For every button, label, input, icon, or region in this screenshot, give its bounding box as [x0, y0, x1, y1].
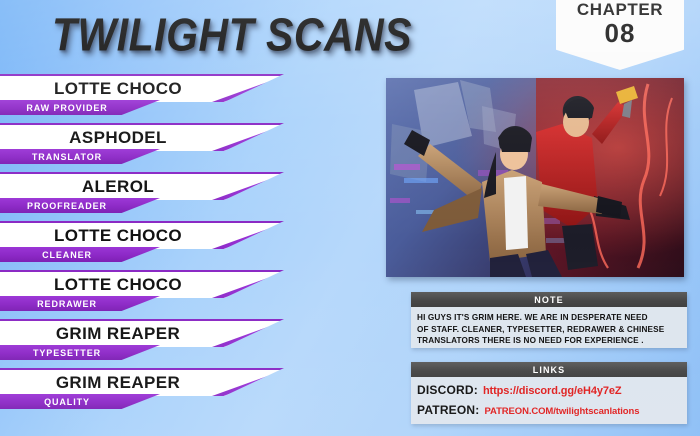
credit-role-bar: CLEANER: [0, 247, 160, 262]
note-line: OF STAFF. CLEANER, TYPESETTER, REDRAWER …: [417, 324, 681, 336]
credit-block: LOTTE CHOCORAW PROVIDER: [0, 74, 300, 118]
artwork-illustration: [386, 78, 684, 277]
links-panel-header: LINKS: [411, 362, 687, 377]
credit-name-bar: ALEROL: [0, 172, 284, 200]
credit-block: LOTTE CHOCOCLEANER: [0, 221, 300, 265]
link-row[interactable]: DISCORD:https://discord.gg/eH4y7eZ: [417, 383, 681, 397]
note-line: TRANSLATORS THERE IS NO NEED FOR EXPERIE…: [417, 335, 681, 347]
chapter-label: CHAPTER: [577, 1, 663, 19]
credits-page: TWILIGHT SCANS CHAPTER 08 LOTTE CHOCORAW…: [0, 0, 700, 436]
note-body: HI GUYS IT'S GRIM HERE. WE ARE IN DESPER…: [411, 307, 687, 347]
credit-name-bar: LOTTE CHOCO: [0, 270, 284, 298]
note-line: HI GUYS IT'S GRIM HERE. WE ARE IN DESPER…: [417, 312, 681, 324]
link-label: PATREON:: [417, 403, 480, 417]
credit-name: LOTTE CHOCO: [54, 79, 182, 99]
credit-block: ASPHODELTRANSLATOR: [0, 123, 300, 167]
credit-role-bar: REDRAWER: [0, 296, 160, 311]
links-panel: LINKS DISCORD:https://discord.gg/eH4y7eZ…: [411, 362, 687, 424]
credit-role: REDRAWER: [37, 299, 97, 309]
link-label: DISCORD:: [417, 383, 478, 397]
credit-block: GRIM REAPERTYPESETTER: [0, 319, 300, 363]
note-header-label: NOTE: [534, 295, 563, 305]
chapter-ribbon: CHAPTER 08: [556, 0, 684, 70]
chapter-artwork: [386, 78, 684, 277]
credit-name: GRIM REAPER: [56, 324, 180, 344]
credit-role-bar: TYPESETTER: [0, 345, 160, 360]
credit-name: LOTTE CHOCO: [54, 275, 182, 295]
note-panel: NOTE HI GUYS IT'S GRIM HERE. WE ARE IN D…: [411, 292, 687, 348]
credit-name-bar: GRIM REAPER: [0, 319, 284, 347]
note-panel-header: NOTE: [411, 292, 687, 307]
credit-role-bar: QUALITY: [0, 394, 160, 409]
credit-block: ALEROLPROOFREADER: [0, 172, 300, 216]
credit-role: PROOFREADER: [27, 201, 107, 211]
credit-role: TYPESETTER: [33, 348, 101, 358]
credits-list: LOTTE CHOCORAW PROVIDERASPHODELTRANSLATO…: [0, 74, 300, 417]
credit-role: QUALITY: [44, 397, 90, 407]
links-body: DISCORD:https://discord.gg/eH4y7eZPATREO…: [411, 377, 687, 417]
credit-name: ASPHODEL: [69, 128, 167, 148]
chapter-number: 08: [605, 20, 636, 47]
credit-role-bar: PROOFREADER: [0, 198, 160, 213]
credit-name: LOTTE CHOCO: [54, 226, 182, 246]
credit-name-bar: LOTTE CHOCO: [0, 74, 284, 102]
link-row[interactable]: PATREON:PATREON.COM/twilightscanlations: [417, 403, 681, 417]
credit-block: LOTTE CHOCOREDRAWER: [0, 270, 300, 314]
credit-role: TRANSLATOR: [32, 152, 102, 162]
credit-name: GRIM REAPER: [56, 373, 180, 393]
credit-name-bar: GRIM REAPER: [0, 368, 284, 396]
links-header-label: LINKS: [533, 365, 566, 375]
site-title: TWILIGHT SCANS: [52, 9, 412, 62]
credit-role-bar: RAW PROVIDER: [0, 100, 160, 115]
credit-name: ALEROL: [82, 177, 154, 197]
link-url[interactable]: PATREON.COM/twilightscanlations: [485, 406, 640, 417]
credit-block: GRIM REAPERQUALITY: [0, 368, 300, 412]
credit-role-bar: TRANSLATOR: [0, 149, 160, 164]
credit-role: CLEANER: [42, 250, 92, 260]
credit-name-bar: LOTTE CHOCO: [0, 221, 284, 249]
link-url[interactable]: https://discord.gg/eH4y7eZ: [483, 385, 622, 397]
credit-name-bar: ASPHODEL: [0, 123, 284, 151]
credit-role: RAW PROVIDER: [26, 103, 107, 113]
